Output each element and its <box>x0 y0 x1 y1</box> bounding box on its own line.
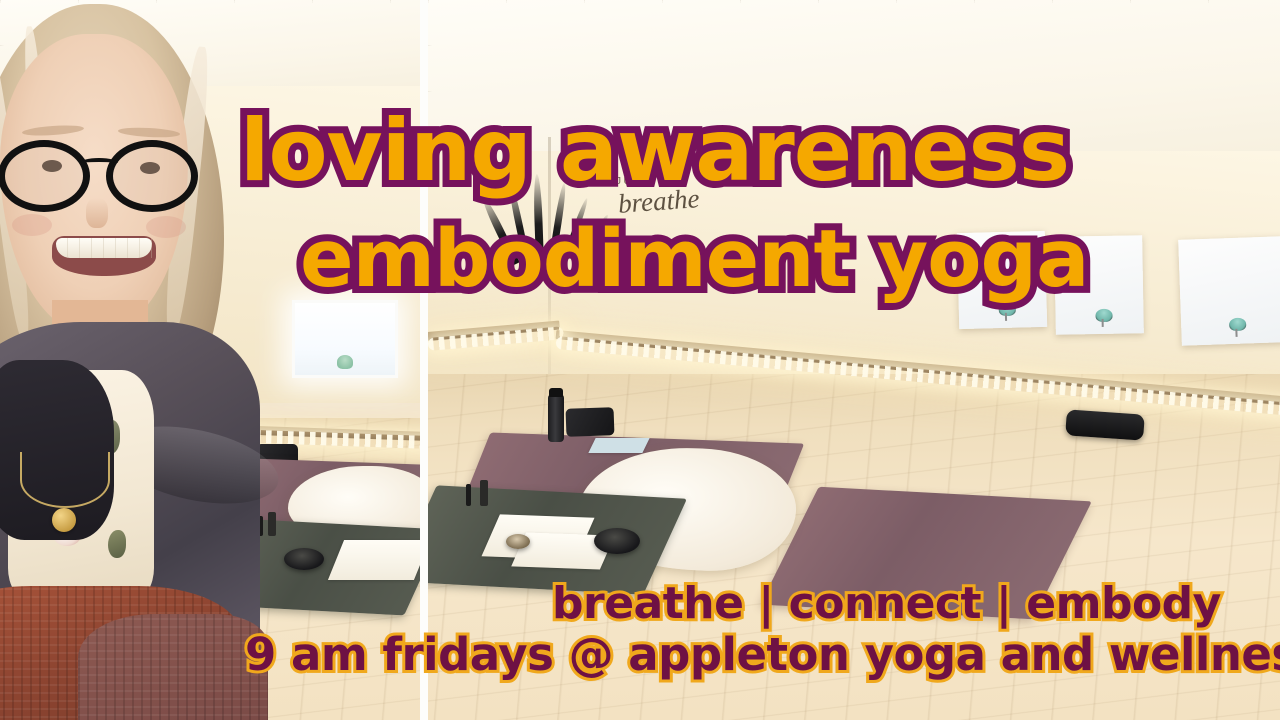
framed-print-2 <box>1054 235 1144 335</box>
framed-print-1 <box>957 231 1047 329</box>
studio-window <box>292 300 398 378</box>
singing-bowl-left-panel <box>284 548 324 570</box>
small-bowl <box>506 534 530 549</box>
cheek-right <box>146 216 186 238</box>
dried-pampas-plant <box>490 168 610 264</box>
round-eyeglasses <box>0 140 200 198</box>
poster-canvas: JUST breathe <box>0 0 1280 720</box>
instructor-portrait-photo <box>0 0 420 720</box>
studio-room-scene: JUST breathe <box>428 0 1280 720</box>
framed-print-3 <box>1178 236 1280 346</box>
incense-stick <box>466 484 471 506</box>
oil-bottle-left-panel <box>268 512 276 536</box>
panel-divider <box>420 0 428 720</box>
gold-pendant <box>52 508 76 532</box>
black-water-bottle <box>548 394 564 442</box>
black-bag <box>566 407 615 437</box>
mauve-knit-garment <box>78 614 268 720</box>
ceiling <box>428 0 1280 173</box>
yoga-studio-room-photo: JUST breathe <box>428 0 1280 720</box>
necklace-chain <box>20 452 110 508</box>
wall-decal-breathe-script: breathe <box>617 183 700 220</box>
cheek-left <box>12 214 52 236</box>
nose <box>86 198 108 228</box>
smiling-mouth <box>52 236 156 276</box>
oil-bottle <box>480 480 488 506</box>
wall-decal-just: JUST <box>616 176 651 187</box>
mauve-yoga-mat-lower <box>760 487 1092 619</box>
jbl-bluetooth-speaker <box>1065 409 1145 440</box>
blue-notebook <box>588 438 649 453</box>
paper-sheet-left-panel <box>328 540 420 580</box>
singing-bowl <box>594 528 640 554</box>
instructor-figure <box>0 0 260 720</box>
water-bottle-cap <box>549 388 563 397</box>
